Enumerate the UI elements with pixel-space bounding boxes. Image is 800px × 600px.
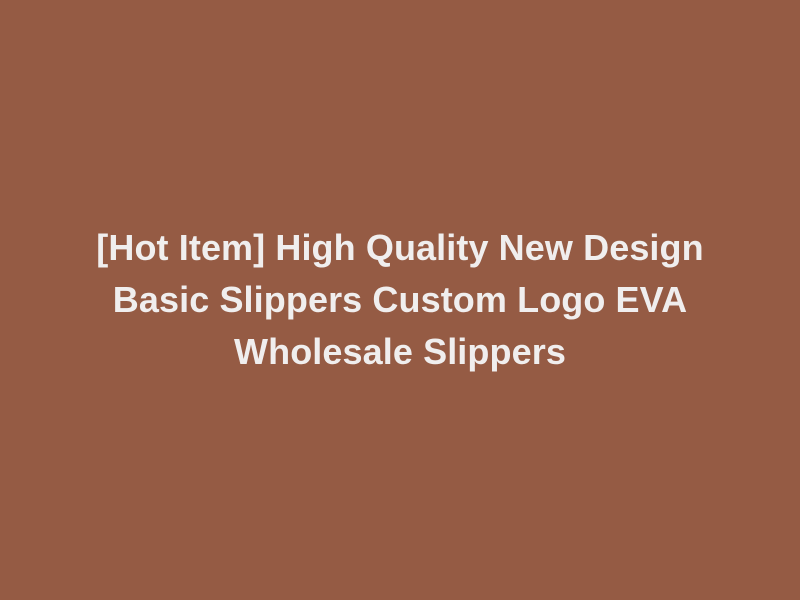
product-title-line-3: Wholesale Slippers <box>50 326 750 378</box>
product-title: [Hot Item] High Quality New Design Basic… <box>50 222 750 378</box>
product-title-line-2: Basic Slippers Custom Logo EVA <box>50 274 750 326</box>
product-placeholder-card: [Hot Item] High Quality New Design Basic… <box>0 0 800 600</box>
product-title-line-1: [Hot Item] High Quality New Design <box>50 222 750 274</box>
